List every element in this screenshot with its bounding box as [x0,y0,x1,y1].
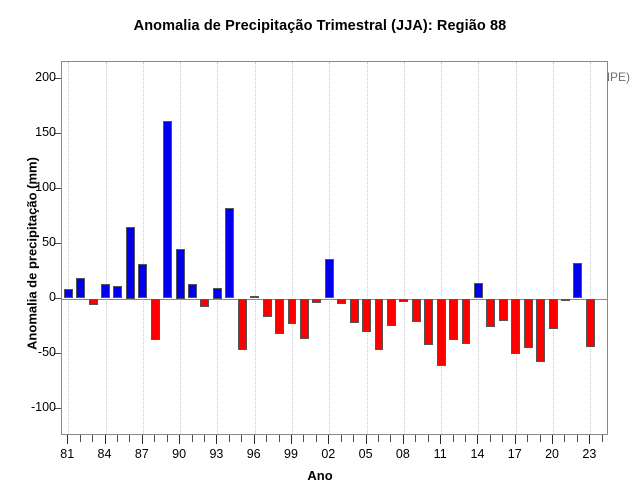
gridline-vertical [329,62,330,434]
y-axis-title: Anomalia de precipitação (mm) [25,54,40,454]
x-axis-tick [129,435,130,442]
x-axis-tick [428,435,429,442]
bar-1992 [200,299,209,308]
bar-1990 [176,249,185,299]
x-axis-tick [540,435,541,442]
bar-1995 [238,299,247,351]
x-axis-tick-label: 90 [172,447,186,461]
bar-2023 [586,299,595,347]
x-axis-tick [602,435,603,442]
bar-2018 [524,299,533,349]
bar-1985 [113,286,122,298]
gridline-vertical [180,62,181,434]
bar-2020 [549,299,558,330]
x-axis-tick [390,435,391,442]
x-axis-tick [316,435,317,442]
x-axis-tick [577,435,578,442]
y-axis-tick-label: 0 [49,290,56,304]
x-axis-tick [117,435,118,442]
x-axis-tick [415,435,416,442]
x-axis-tick-label: 11 [434,447,447,461]
bar-2001 [312,299,321,303]
gridline-vertical [553,62,554,434]
bar-2006 [375,299,384,351]
bar-2022 [573,263,582,298]
bar-1988 [151,299,160,341]
bar-2004 [350,299,359,323]
bar-1991 [188,284,197,298]
gridline-vertical [478,62,479,434]
x-axis-tick-label: 08 [396,447,410,461]
x-axis-tick [477,435,478,444]
x-axis-tick [241,435,242,442]
x-axis-tick [154,435,155,442]
x-axis-tick-label: 84 [98,447,112,461]
gridline-vertical [143,62,144,434]
bar-2021 [561,299,570,301]
x-axis-tick-label: 02 [321,447,335,461]
bar-1993 [213,288,222,299]
x-axis-tick [341,435,342,442]
gridline-vertical [255,62,256,434]
x-axis-tick-label: 05 [359,447,373,461]
bar-2011 [437,299,446,366]
x-axis-tick [179,435,180,444]
x-axis-tick [366,435,367,444]
bar-2019 [536,299,545,363]
bar-2009 [412,299,421,322]
x-axis-tick [502,435,503,442]
x-axis-tick [216,435,217,444]
bar-1984 [101,284,110,298]
bar-2007 [387,299,396,327]
y-axis-tick-label: 100 [35,180,56,194]
bar-2002 [325,259,334,299]
x-axis-tick [403,435,404,444]
bar-2014 [474,283,483,298]
x-axis-tick [453,435,454,442]
bar-1987 [138,264,147,298]
x-axis-tick [552,435,553,444]
bar-1983 [89,299,98,306]
x-axis-tick [92,435,93,442]
x-axis-tick [378,435,379,442]
x-axis-tick-label: 99 [284,447,298,461]
bar-1986 [126,227,135,299]
x-axis-tick-label: 96 [247,447,261,461]
bar-1999 [288,299,297,324]
bar-2003 [337,299,346,305]
x-axis-tick-label: 81 [60,447,74,461]
plot-area [61,61,608,435]
bar-2016 [499,299,508,321]
page-title: Anomalia de Precipitação Trimestral (JJA… [0,18,640,34]
bar-2008 [399,299,408,302]
x-axis-tick [80,435,81,442]
x-axis-tick [291,435,292,444]
x-axis-tick-label: 20 [545,447,559,461]
x-axis-tick [229,435,230,442]
gridline-vertical [590,62,591,434]
bar-2000 [300,299,309,340]
bar-2013 [462,299,471,344]
bar-1997 [263,299,272,318]
x-axis-tick [105,435,106,444]
gridline-vertical [292,62,293,434]
gridline-vertical [404,62,405,434]
x-axis-tick [465,435,466,442]
x-axis-tick [328,435,329,444]
bar-1998 [275,299,284,334]
gridline-vertical [516,62,517,434]
x-axis-tick [192,435,193,442]
x-axis-tick [204,435,205,442]
x-axis-tick [142,435,143,444]
x-axis-tick [490,435,491,442]
x-axis-tick-label: 87 [135,447,149,461]
x-axis-tick [303,435,304,442]
x-axis-tick [589,435,590,444]
x-axis-tick [564,435,565,442]
chart-root: Anomalia de Precipitação Trimestral (JJA… [0,0,640,500]
bar-2005 [362,299,371,332]
x-axis-tick-label: 93 [209,447,223,461]
x-axis-tick [515,435,516,444]
x-axis-tick-label: 23 [582,447,596,461]
bar-2017 [511,299,520,354]
x-axis-tick [440,435,441,444]
x-axis-tick [254,435,255,444]
y-axis-tick-label: -100 [31,400,56,414]
gridline-vertical [367,62,368,434]
x-axis-tick [279,435,280,442]
bar-1994 [225,208,234,298]
gridline-vertical [106,62,107,434]
gridline-vertical [441,62,442,434]
y-axis-tick-label: 150 [35,125,56,139]
x-axis: 818487909396990205081114172023 [0,435,640,475]
x-axis-tick-label: 17 [508,447,522,461]
y-axis-tick-label: 50 [42,235,56,249]
bar-1981 [64,289,73,299]
x-axis-tick [266,435,267,442]
y-axis-tick-label: 200 [35,70,56,84]
bar-1989 [163,121,172,298]
gridline-vertical [68,62,69,434]
x-axis-tick [167,435,168,442]
x-axis-tick [527,435,528,442]
bar-1982 [76,278,85,299]
gridline-vertical [217,62,218,434]
x-axis-tick [67,435,68,444]
bar-2015 [486,299,495,328]
y-axis-tick-label: -50 [38,345,56,359]
bar-1996 [250,296,259,298]
x-axis-tick-label: 14 [471,447,485,461]
bar-2012 [449,299,458,341]
bar-2010 [424,299,433,345]
x-axis-tick [353,435,354,442]
